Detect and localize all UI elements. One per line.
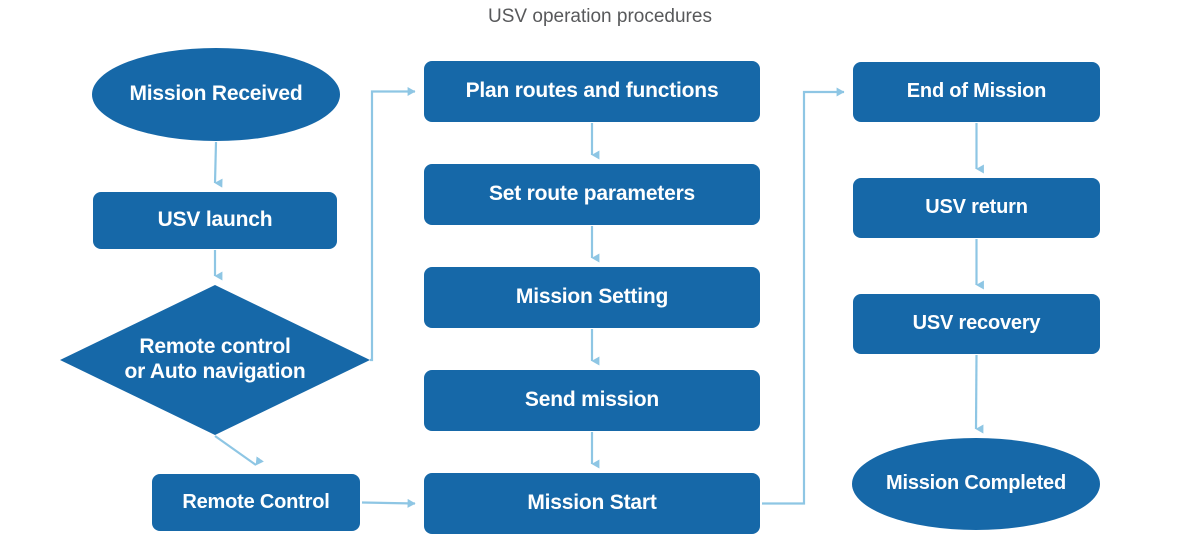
node-shape-plan-routes-and-functions[interactable] (424, 61, 760, 122)
edge-mission-received-to-usv-launch (215, 142, 216, 183)
edge-remote-control-or-auto-navigation-to-remote-control (215, 436, 256, 465)
node-shape-mission-start[interactable] (424, 473, 760, 534)
node-shape-mission-received[interactable] (92, 48, 340, 141)
node-shape-mission-setting[interactable] (424, 267, 760, 328)
flowchart-canvas: USV operation procedures Mission Receive… (0, 0, 1200, 559)
nodes-group (60, 48, 1100, 534)
node-shape-remote-control-or-auto-navigation[interactable] (60, 285, 370, 435)
node-shape-usv-launch[interactable] (93, 192, 337, 249)
node-shape-mission-completed[interactable] (852, 438, 1100, 530)
node-shape-set-route-parameters[interactable] (424, 164, 760, 225)
node-shape-usv-recovery[interactable] (853, 294, 1100, 354)
node-shape-end-of-mission[interactable] (853, 62, 1100, 122)
edge-mission-start-to-end-of-mission (762, 92, 844, 504)
flowchart-shapes-layer (0, 0, 1200, 559)
node-shape-remote-control[interactable] (152, 474, 360, 531)
edge-usv-recovery-to-mission-completed (976, 355, 977, 429)
edge-remote-control-or-auto-navigation-to-plan-routes-and-functions (370, 92, 415, 361)
edge-remote-control-to-mission-start (362, 503, 415, 504)
node-shape-usv-return[interactable] (853, 178, 1100, 238)
node-shape-send-mission[interactable] (424, 370, 760, 431)
